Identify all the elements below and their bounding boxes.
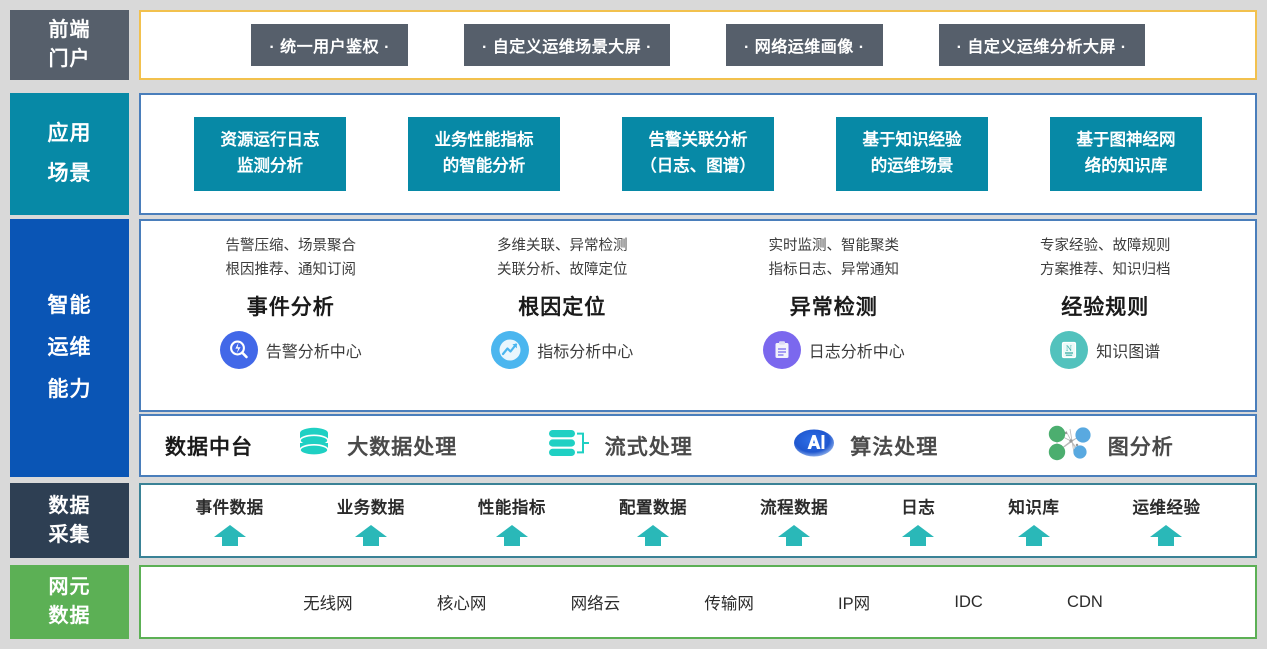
ai-capability-title: 根因定位 bbox=[518, 291, 606, 321]
ai-capability-title: 事件分析 bbox=[247, 291, 335, 321]
app-scenario-card[interactable]: 告警关联分析 （日志、图谱） bbox=[622, 117, 774, 191]
ai-capability-column: 多维关联、异常检测 关联分析、故障定位 根因定位 指标分析中心 bbox=[437, 235, 687, 369]
layer-label-portal-line2: 门户 bbox=[49, 45, 91, 74]
portal-chip[interactable]: · 网络运维画像 · bbox=[726, 24, 883, 66]
ai-sub-line1: 多维关联、异常检测 bbox=[497, 235, 628, 259]
network-element-row: 无线网 核心网 网络云 传输网 IP网 IDC CDN bbox=[141, 567, 1255, 637]
ai-capability-column: 告警压缩、场景聚合 根因推荐、通知订阅 事件分析 告警分析中心 bbox=[166, 235, 416, 369]
up-arrow-icon bbox=[901, 523, 935, 547]
ai-capability-title: 经验规则 bbox=[1061, 291, 1149, 321]
log-analysis-icon bbox=[763, 331, 801, 369]
app-scenario-panel: 资源运行日志 监测分析 业务性能指标 的智能分析 告警关联分析 （日志、图谱） … bbox=[139, 93, 1257, 215]
layer-label-network-line1: 网元 bbox=[49, 573, 91, 602]
architecture-diagram: 前端 门户 应用 场景 智能 运维 能力 数据 采集 网元 数据 · 统一用户鉴… bbox=[0, 0, 1267, 649]
data-collection-label: 配置数据 bbox=[619, 494, 687, 518]
layer-label-network-line2: 数据 bbox=[49, 602, 91, 631]
ai-sub-line2: 关联分析、故障定位 bbox=[497, 259, 628, 283]
up-arrow-icon bbox=[354, 523, 388, 547]
app-card-line2: （日志、图谱） bbox=[640, 154, 756, 180]
data-platform-item[interactable]: 算法处理 bbox=[742, 424, 987, 467]
ai-capability-title: 异常检测 bbox=[790, 291, 878, 321]
up-arrow-icon bbox=[636, 523, 670, 547]
data-collection-label: 事件数据 bbox=[196, 494, 264, 518]
layer-label-ai-line2: 运维 bbox=[48, 327, 92, 369]
data-collection-item[interactable]: 业务数据 bbox=[337, 494, 405, 547]
ai-capability-panel: 告警压缩、场景聚合 根因推荐、通知订阅 事件分析 告警分析中心 多 bbox=[139, 219, 1257, 412]
app-scenario-card[interactable]: 基于图神经网 络的知识库 bbox=[1050, 117, 1202, 191]
up-arrow-icon bbox=[1149, 523, 1183, 547]
data-platform-item-label: 算法处理 bbox=[850, 431, 938, 461]
app-card-line1: 告警关联分析 bbox=[649, 128, 748, 154]
data-collection-item[interactable]: 配置数据 bbox=[619, 494, 687, 547]
ai-icon-row[interactable]: 告警分析中心 bbox=[220, 331, 362, 369]
data-platform-item-label: 大数据处理 bbox=[347, 431, 457, 461]
ai-icon-row[interactable]: 日志分析中心 bbox=[763, 331, 905, 369]
app-card-line2: 的智能分析 bbox=[443, 154, 526, 180]
layer-label-app-line2: 场景 bbox=[48, 154, 92, 194]
layer-label-collect-line1: 数据 bbox=[49, 492, 91, 521]
data-collection-label: 性能指标 bbox=[478, 494, 546, 518]
ai-capability-column: 实时监测、智能聚类 指标日志、异常通知 异常检测 日志分析中心 bbox=[709, 235, 959, 369]
data-platform-row: 数据中台 大数据处理 bbox=[141, 416, 1255, 475]
svg-text:N: N bbox=[1066, 343, 1072, 353]
layer-label-portal: 前端 门户 bbox=[10, 10, 129, 80]
layer-label-app-line1: 应用 bbox=[48, 114, 92, 154]
layer-label-ai: 智能 运维 能力 bbox=[10, 219, 129, 477]
data-platform-item-label: 图分析 bbox=[1108, 431, 1174, 461]
app-card-line2: 监测分析 bbox=[237, 154, 303, 180]
network-element-label[interactable]: 无线网 bbox=[303, 590, 353, 614]
up-arrow-icon bbox=[1017, 523, 1051, 547]
data-collection-item[interactable]: 运维经验 bbox=[1132, 494, 1200, 547]
data-collection-label: 知识库 bbox=[1008, 494, 1059, 518]
alarm-analysis-icon bbox=[220, 331, 258, 369]
app-card-line1: 基于知识经验 bbox=[863, 128, 962, 154]
layer-label-app: 应用 场景 bbox=[10, 93, 129, 215]
portal-chip-row: · 统一用户鉴权 · · 自定义运维场景大屏 · · 网络运维画像 · · 自定… bbox=[141, 12, 1255, 78]
knowledge-graph-icon: N bbox=[1050, 331, 1088, 369]
layer-label-network: 网元 数据 bbox=[10, 565, 129, 639]
data-collection-panel: 事件数据 业务数据 性能指标 配置数据 流程数据 日志 bbox=[139, 483, 1257, 558]
portal-panel: · 统一用户鉴权 · · 自定义运维场景大屏 · · 网络运维画像 · · 自定… bbox=[139, 10, 1257, 80]
ai-sub-line2: 方案推荐、知识归档 bbox=[1040, 259, 1171, 283]
ai-icon-label: 指标分析中心 bbox=[537, 338, 633, 362]
data-collection-item[interactable]: 事件数据 bbox=[196, 494, 264, 547]
data-platform-item-label: 流式处理 bbox=[605, 431, 693, 461]
app-card-line1: 基于图神经网 bbox=[1077, 128, 1176, 154]
data-collection-item[interactable]: 知识库 bbox=[1008, 494, 1059, 547]
data-collection-item[interactable]: 性能指标 bbox=[478, 494, 546, 547]
ai-sub-line1: 专家经验、故障规则 bbox=[1040, 235, 1171, 259]
network-element-panel: 无线网 核心网 网络云 传输网 IP网 IDC CDN bbox=[139, 565, 1257, 639]
data-collection-label: 业务数据 bbox=[337, 494, 405, 518]
stream-icon bbox=[547, 425, 593, 466]
data-collection-label: 流程数据 bbox=[760, 494, 828, 518]
app-card-line1: 资源运行日志 bbox=[221, 128, 320, 154]
ai-icon-label: 日志分析中心 bbox=[809, 338, 905, 362]
ai-sub-line2: 根因推荐、通知订阅 bbox=[226, 259, 357, 283]
network-element-label[interactable]: 传输网 bbox=[704, 590, 754, 614]
data-platform-panel: 数据中台 大数据处理 bbox=[139, 414, 1257, 477]
graph-icon bbox=[1044, 423, 1096, 468]
data-platform-item[interactable]: 大数据处理 bbox=[253, 425, 498, 466]
app-scenario-card[interactable]: 基于知识经验 的运维场景 bbox=[836, 117, 988, 191]
app-card-line2: 的运维场景 bbox=[871, 154, 954, 180]
ai-capability-column: 专家经验、故障规则 方案推荐、知识归档 经验规则 N 知识图谱 bbox=[980, 235, 1230, 369]
up-arrow-icon bbox=[213, 523, 247, 547]
app-card-line2: 络的知识库 bbox=[1085, 154, 1168, 180]
data-collection-item[interactable]: 流程数据 bbox=[760, 494, 828, 547]
up-arrow-icon bbox=[777, 523, 811, 547]
ai-sub-line1: 实时监测、智能聚类 bbox=[769, 235, 900, 259]
ai-icon-row[interactable]: N 知识图谱 bbox=[1050, 331, 1160, 369]
up-arrow-icon bbox=[495, 523, 529, 547]
data-platform-item[interactable]: 流式处理 bbox=[498, 425, 743, 466]
layer-label-collect: 数据 采集 bbox=[10, 483, 129, 558]
ai-sub-line1: 告警压缩、场景聚合 bbox=[226, 235, 357, 259]
ai-icon-row[interactable]: 指标分析中心 bbox=[491, 331, 633, 369]
network-element-label[interactable]: IP网 bbox=[838, 590, 870, 614]
network-element-label[interactable]: CDN bbox=[1067, 593, 1103, 612]
data-platform-title: 数据中台 bbox=[165, 431, 253, 461]
data-collection-row: 事件数据 业务数据 性能指标 配置数据 流程数据 日志 bbox=[141, 485, 1255, 556]
network-element-label[interactable]: 网络云 bbox=[571, 590, 621, 614]
data-collection-label: 日志 bbox=[901, 494, 935, 518]
app-scenario-card[interactable]: 业务性能指标 的智能分析 bbox=[408, 117, 560, 191]
ai-icon-label: 知识图谱 bbox=[1096, 338, 1160, 362]
data-platform-item[interactable]: 图分析 bbox=[987, 423, 1232, 468]
network-element-label[interactable]: IDC bbox=[954, 593, 982, 612]
layer-label-portal-line1: 前端 bbox=[49, 16, 91, 45]
metric-analysis-icon bbox=[491, 331, 529, 369]
app-card-line1: 业务性能指标 bbox=[435, 128, 534, 154]
app-card-row: 资源运行日志 监测分析 业务性能指标 的智能分析 告警关联分析 （日志、图谱） … bbox=[141, 95, 1255, 213]
ai-sub-line2: 指标日志、异常通知 bbox=[769, 259, 900, 283]
portal-chip[interactable]: · 自定义运维分析大屏 · bbox=[939, 24, 1145, 66]
ai-icon-label: 告警分析中心 bbox=[266, 338, 362, 362]
data-collection-label: 运维经验 bbox=[1132, 494, 1200, 518]
portal-chip[interactable]: · 自定义运维场景大屏 · bbox=[464, 24, 670, 66]
layer-label-ai-line3: 能力 bbox=[48, 369, 92, 411]
portal-chip[interactable]: · 统一用户鉴权 · bbox=[251, 24, 408, 66]
layer-label-collect-line2: 采集 bbox=[49, 521, 91, 550]
ai-capability-row: 告警压缩、场景聚合 根因推荐、通知订阅 事件分析 告警分析中心 多 bbox=[141, 221, 1255, 410]
network-element-label[interactable]: 核心网 bbox=[437, 590, 487, 614]
layer-label-ai-line1: 智能 bbox=[48, 285, 92, 327]
app-scenario-card[interactable]: 资源运行日志 监测分析 bbox=[194, 117, 346, 191]
database-icon bbox=[293, 425, 335, 466]
data-collection-item[interactable]: 日志 bbox=[901, 494, 935, 547]
ai-icon bbox=[790, 424, 838, 467]
